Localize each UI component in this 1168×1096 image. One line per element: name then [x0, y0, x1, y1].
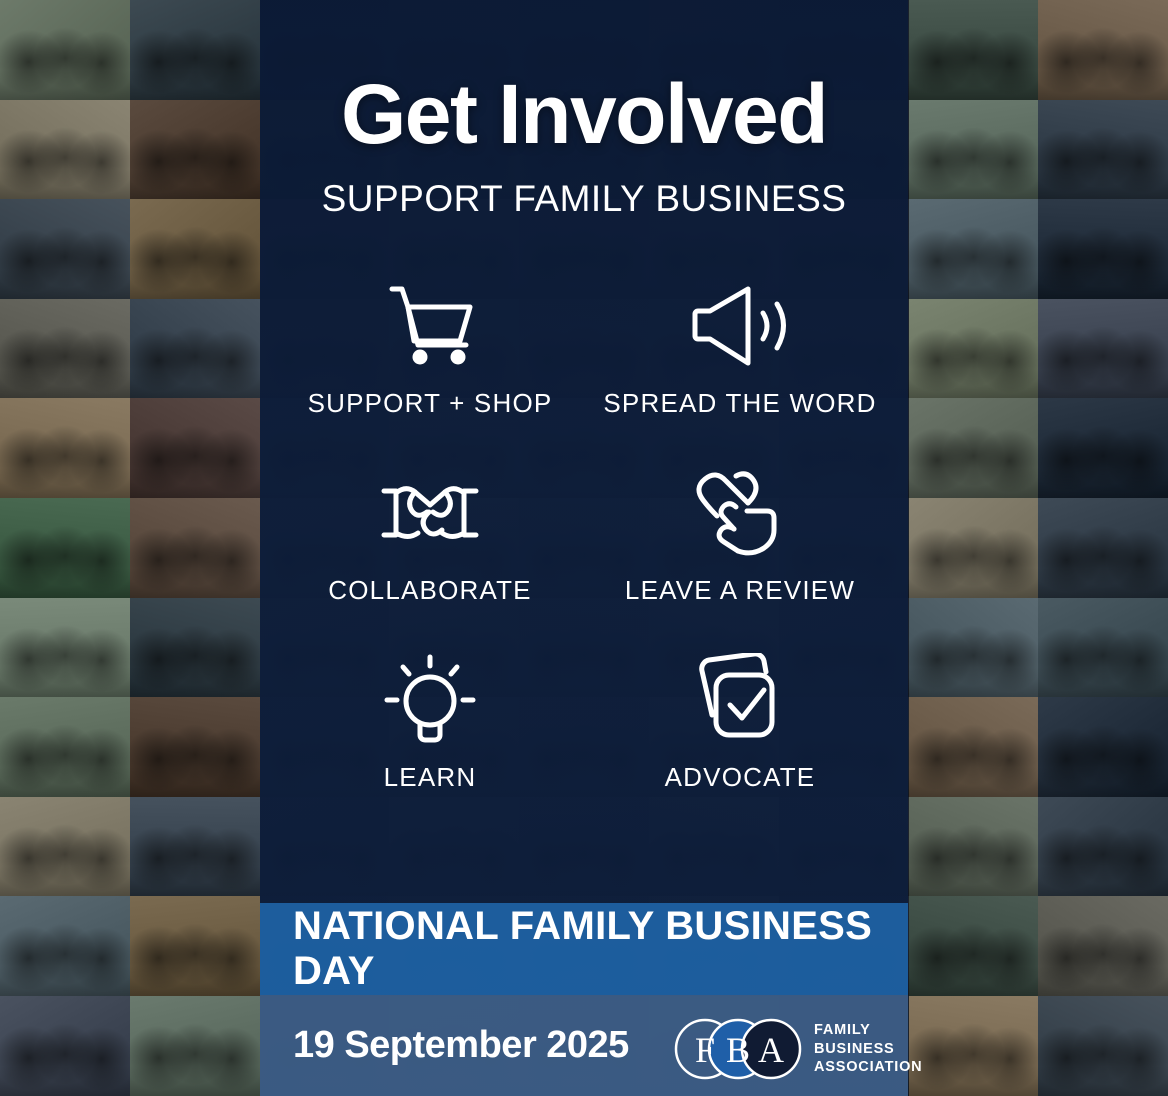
mosaic-photo-tile [909, 697, 1039, 797]
mosaic-photo-tile [0, 0, 130, 100]
mosaic-photo-tile [1038, 797, 1168, 897]
mosaic-photo-tile [1038, 896, 1168, 996]
svg-text:F: F [695, 1030, 715, 1070]
action-label: SUPPORT + SHOP [308, 388, 553, 419]
mosaic-photo-tile [0, 697, 130, 797]
mosaic-photo-tile [130, 896, 260, 996]
mosaic-photo-tile [130, 498, 260, 598]
mosaic-photo-tile [130, 100, 260, 200]
mosaic-photo-tile [0, 896, 130, 996]
page-title: Get Involved [260, 72, 908, 156]
mosaic-photo-tile [1038, 697, 1168, 797]
fba-logo-wordmark: FAMILY BUSINESS ASSOCIATION [814, 1021, 922, 1077]
action-item-learn[interactable]: LEARN [275, 652, 585, 793]
mosaic-photo-tile [0, 100, 130, 200]
mosaic-photo-tile [1038, 299, 1168, 399]
poster-canvas: Get Involved SUPPORT FAMILY BUSINESS SUP… [0, 0, 1168, 1096]
event-banner: NATIONAL FAMILY BUSINESS DAY [260, 903, 908, 995]
fba-logo-mark: F B A [672, 1018, 804, 1080]
mosaic-photo-tile [909, 797, 1039, 897]
mosaic-photo-tile [0, 299, 130, 399]
action-label: SPREAD THE WORD [603, 388, 876, 419]
mosaic-photo-tile [909, 199, 1039, 299]
action-label: COLLABORATE [328, 575, 531, 606]
mosaic-photo-tile [909, 299, 1039, 399]
mosaic-photo-tile [1038, 996, 1168, 1096]
mosaic-photo-tile [1038, 199, 1168, 299]
action-item-support-shop[interactable]: SUPPORT + SHOP [275, 278, 585, 419]
mosaic-photo-tile [909, 598, 1039, 698]
mosaic-photo-tile [130, 996, 260, 1096]
action-item-spread-the-word[interactable]: SPREAD THE WORD [585, 278, 895, 419]
mosaic-photo-tile [130, 199, 260, 299]
action-label: ADVOCATE [665, 762, 816, 793]
action-icon-grid: SUPPORT + SHOP SPREAD THE WORD [275, 278, 895, 793]
mosaic-photo-tile [909, 498, 1039, 598]
mosaic-photo-tile [130, 697, 260, 797]
mosaic-photo-tile [909, 398, 1039, 498]
heart-hand-icon [692, 465, 788, 561]
svg-text:B: B [726, 1030, 750, 1070]
action-item-collaborate[interactable]: COLLABORATE [275, 465, 585, 606]
mosaic-photo-tile [1038, 498, 1168, 598]
checkbox-stack-icon [692, 652, 788, 748]
event-banner-title: NATIONAL FAMILY BUSINESS DAY [293, 904, 908, 994]
mosaic-photo-tile [0, 797, 130, 897]
shopping-cart-icon [384, 278, 476, 374]
mosaic-photo-tile [909, 100, 1039, 200]
mosaic-photo-tile [0, 598, 130, 698]
lightbulb-icon [383, 652, 477, 748]
headline-block: Get Involved SUPPORT FAMILY BUSINESS [260, 72, 908, 220]
action-label: LEARN [384, 762, 477, 793]
mosaic-photo-tile [1038, 100, 1168, 200]
mosaic-photo-tile [130, 398, 260, 498]
svg-text:A: A [758, 1030, 784, 1070]
mosaic-photo-tile [130, 598, 260, 698]
mosaic-photo-tile [0, 996, 130, 1096]
mosaic-photo-tile [909, 896, 1039, 996]
mosaic-photo-tile [909, 0, 1039, 100]
mosaic-photo-tile [1038, 598, 1168, 698]
mosaic-photo-tile [0, 199, 130, 299]
mosaic-photo-tile [130, 299, 260, 399]
mosaic-photo-tile [130, 797, 260, 897]
mosaic-photo-tile [909, 996, 1039, 1096]
mosaic-photo-tile [130, 0, 260, 100]
mosaic-photo-tile [0, 498, 130, 598]
logo-line-association: ASSOCIATION [814, 1058, 922, 1077]
action-item-leave-a-review[interactable]: LEAVE A REVIEW [585, 465, 895, 606]
mosaic-photo-tile [1038, 398, 1168, 498]
logo-line-business: BUSINESS [814, 1040, 922, 1059]
megaphone-icon [690, 278, 790, 374]
action-item-advocate[interactable]: ADVOCATE [585, 652, 895, 793]
logo-line-family: FAMILY [814, 1021, 922, 1040]
fba-logo: F B A FAMILY BUSINESS ASSOCIATION [672, 1018, 922, 1080]
event-date: 19 September 2025 [293, 1024, 629, 1067]
page-subtitle: SUPPORT FAMILY BUSINESS [260, 178, 908, 220]
mosaic-photo-tile [0, 398, 130, 498]
mosaic-photo-tile [1038, 0, 1168, 100]
action-label: LEAVE A REVIEW [625, 575, 855, 606]
handshake-icon [380, 465, 480, 561]
